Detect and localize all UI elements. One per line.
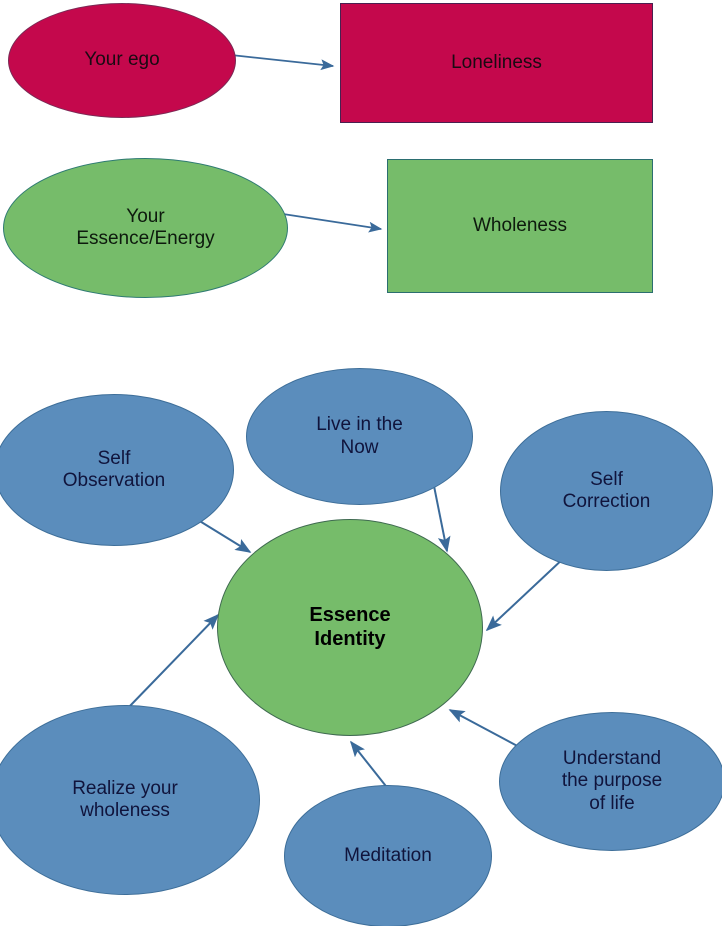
node-self-correction-label: Self Correction [563, 469, 651, 514]
node-your-ego[interactable]: Your ego [8, 3, 236, 118]
edge-realize-wholeness-to-essence-identity [128, 615, 218, 708]
node-essence-identity-label: Essence Identity [309, 604, 390, 651]
node-live-in-the-now[interactable]: Live in the Now [246, 368, 473, 505]
edge-ego-to-loneliness [231, 55, 333, 66]
node-loneliness-label: Loneliness [451, 52, 542, 74]
node-self-correction[interactable]: Self Correction [500, 411, 713, 571]
node-loneliness[interactable]: Loneliness [340, 3, 653, 123]
node-self-observation-label: Self Observation [63, 448, 165, 493]
node-meditation-label: Meditation [344, 845, 432, 867]
node-wholeness-label: Wholeness [473, 215, 567, 237]
edge-self-correction-to-essence-identity [487, 556, 566, 630]
node-your-essence-energy-label: Your Essence/Energy [76, 206, 214, 251]
edge-live-now-to-essence-identity [434, 486, 447, 551]
node-meditation[interactable]: Meditation [284, 785, 492, 926]
node-understand-purpose-of-life-label: Understand the purpose of life [562, 748, 662, 815]
node-live-in-the-now-label: Live in the Now [316, 414, 403, 459]
edge-essence-to-wholeness [283, 214, 381, 229]
edge-self-observation-to-essence-identity [198, 520, 250, 552]
node-wholeness[interactable]: Wholeness [387, 159, 653, 293]
node-your-essence-energy[interactable]: Your Essence/Energy [3, 158, 288, 298]
edge-meditation-to-essence-identity [351, 742, 389, 790]
diagram-canvas: Your ego Loneliness Your Essence/Energy … [0, 0, 722, 926]
node-realize-your-wholeness[interactable]: Realize your wholeness [0, 705, 260, 895]
node-your-ego-label: Your ego [84, 49, 159, 71]
node-essence-identity[interactable]: Essence Identity [217, 519, 483, 736]
node-understand-purpose-of-life[interactable]: Understand the purpose of life [499, 712, 722, 851]
node-self-observation[interactable]: Self Observation [0, 394, 234, 546]
node-realize-your-wholeness-label: Realize your wholeness [72, 778, 178, 823]
